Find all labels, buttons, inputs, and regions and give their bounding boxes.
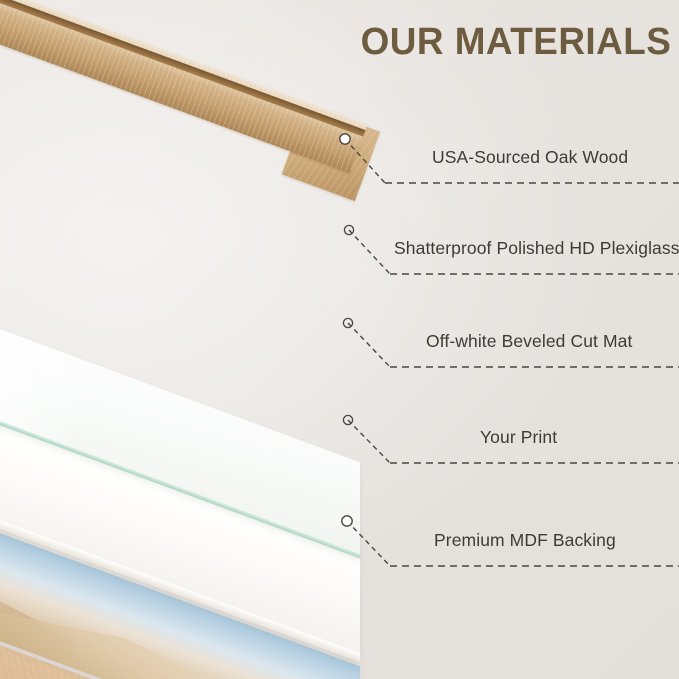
callout-label-oak-wood: USA-Sourced Oak Wood — [432, 147, 628, 168]
frame-rabbet-groove — [0, 0, 365, 137]
callout-label-plexiglass: Shatterproof Polished HD Plexiglass — [394, 238, 679, 259]
callout-label-print: Your Print — [480, 427, 557, 448]
callout-label-mat: Off-white Beveled Cut Mat — [426, 331, 632, 352]
materials-infographic: USA-Sourced Oak Wood Shatterproof Polish… — [0, 0, 679, 679]
callout-label-mdf-backing: Premium MDF Backing — [434, 530, 616, 551]
frame-rail-top — [0, 0, 367, 173]
page-title: OUR MATERIALS — [360, 21, 671, 64]
